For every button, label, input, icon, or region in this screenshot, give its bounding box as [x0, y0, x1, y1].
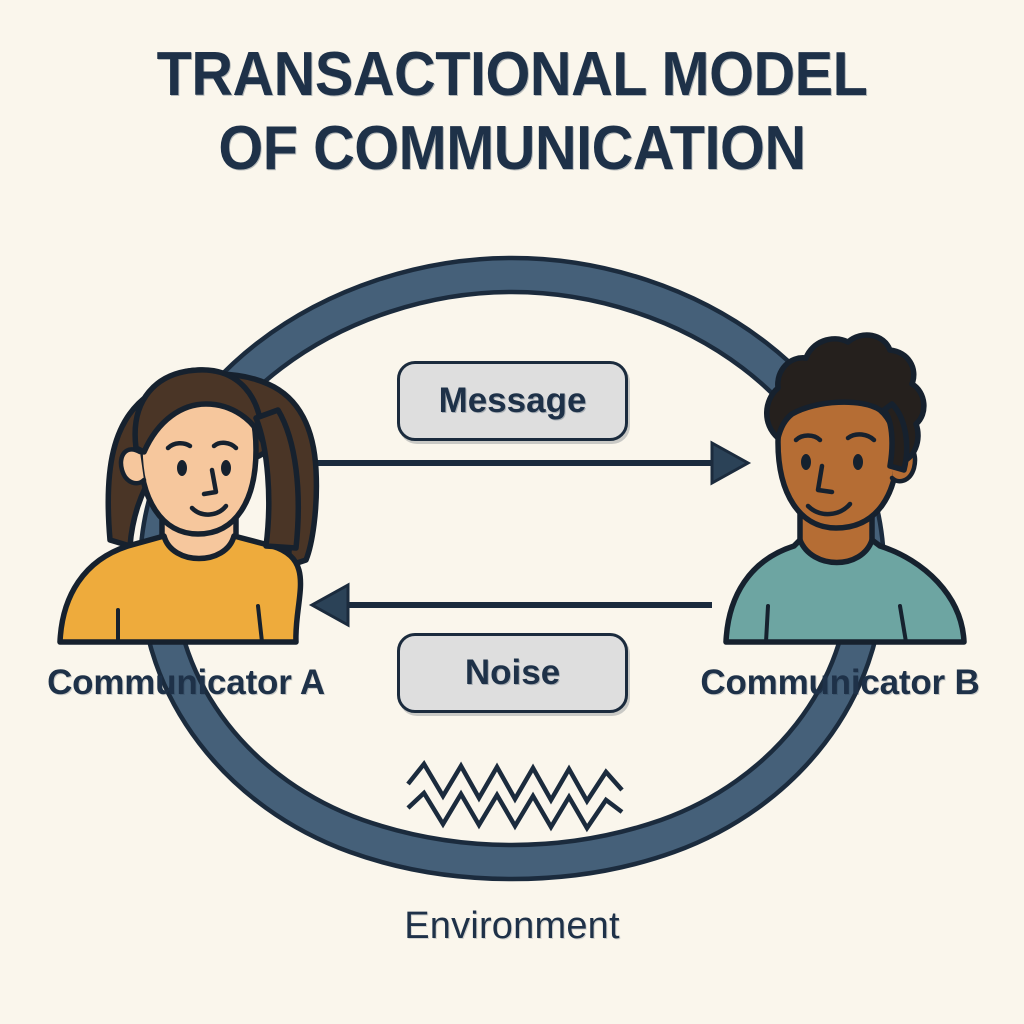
- shirt-b-fold-left: [766, 606, 768, 642]
- eye-b-left: [801, 454, 811, 470]
- noise-label-box[interactable]: Noise: [397, 633, 628, 713]
- communicator-b-illustration[interactable]: [0, 0, 1024, 1024]
- communicator-a-label: Communicator A: [36, 663, 336, 703]
- message-label-box[interactable]: Message: [397, 361, 628, 441]
- noise-label-text: Noise: [465, 653, 560, 693]
- communicator-b-label: Communicator B: [690, 663, 990, 703]
- diagram-canvas: TRANSACTIONAL MODEL OF COMMUNICATION Mes…: [0, 0, 1024, 1024]
- eye-b-right: [853, 454, 863, 470]
- environment-label: Environment: [0, 905, 1024, 948]
- message-label-text: Message: [439, 381, 587, 421]
